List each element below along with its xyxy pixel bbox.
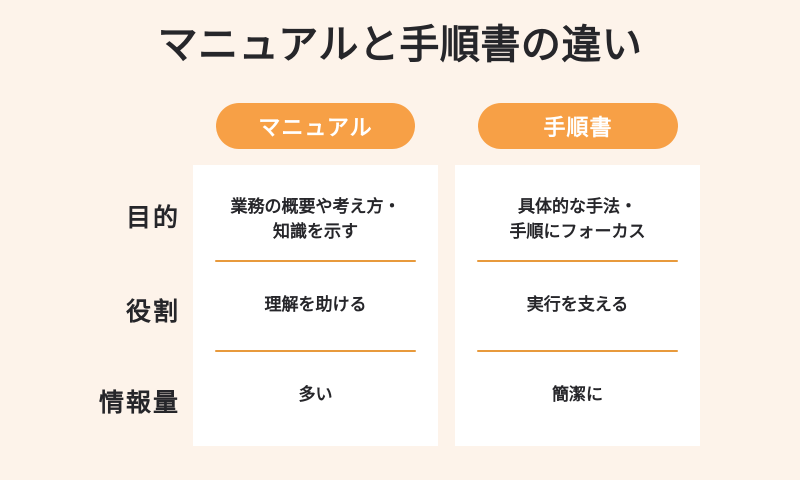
comparison-card-procedure: 具体的な手法・手順にフォーカス 実行を支える 簡潔に xyxy=(455,165,700,446)
column-header-manual-label: マニュアル xyxy=(258,110,372,142)
page-title: マニュアルと手順書の違い xyxy=(0,20,800,70)
card-divider xyxy=(215,260,416,262)
row-label-information-volume: 情報量 xyxy=(40,383,180,419)
cell-manual-information-volume: 多い xyxy=(193,383,438,408)
cell-procedure-information-volume: 簡潔に xyxy=(455,383,700,408)
row-label-purpose: 目的 xyxy=(40,198,180,234)
column-header-procedure-label: 手順書 xyxy=(543,110,612,142)
card-divider xyxy=(215,350,416,352)
card-divider xyxy=(477,350,678,352)
card-divider xyxy=(477,260,678,262)
row-label-role: 役割 xyxy=(40,292,180,328)
column-header-manual: マニュアル xyxy=(216,103,415,149)
cell-manual-role: 理解を助ける xyxy=(193,293,438,318)
column-header-procedure: 手順書 xyxy=(478,103,678,149)
comparison-card-manual: 業務の概要や考え方・知識を示す 理解を助ける 多い xyxy=(193,165,438,446)
cell-procedure-purpose: 具体的な手法・手順にフォーカス xyxy=(455,195,700,245)
cell-manual-purpose: 業務の概要や考え方・知識を示す xyxy=(193,195,438,245)
cell-procedure-role: 実行を支える xyxy=(455,293,700,318)
